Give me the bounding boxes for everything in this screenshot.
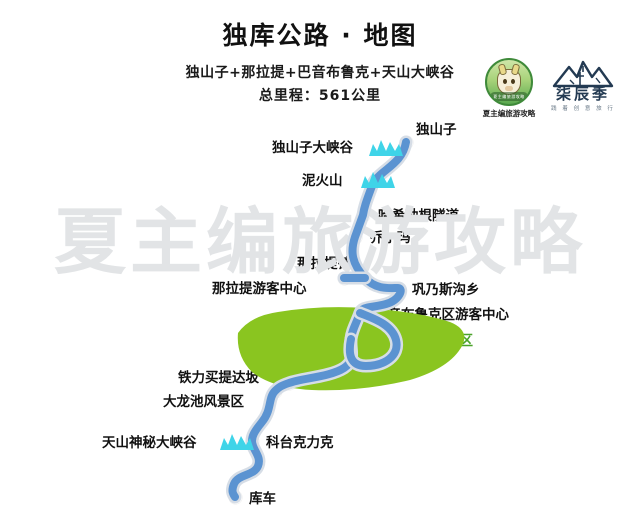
peak-icon [361,170,395,192]
cow-eye-left-icon [503,79,507,84]
partner-logo-name: 柒辰季 [550,87,616,102]
partner-logo-tagline: 践 着 创 意 旅 行 [550,104,616,112]
brand-logo-ring-text: 夏主编旅游攻略 [490,92,528,101]
brand-logo-mark: 夏主编旅游攻略 [485,58,533,106]
cow-ear-right-icon [511,63,521,76]
cow-eye-right-icon [511,79,515,84]
peak-icon [220,432,254,454]
brand-logo-caption: 夏主编旅游攻略 [478,108,540,119]
partner-logo: 柒辰季 践 着 创 意 旅 行 [550,58,616,112]
page-title: 独库公路 · 地图 [0,16,640,52]
mountain-logo-icon [552,58,614,88]
cow-ear-left-icon [498,63,508,76]
map-page: 夏主编旅游攻略 独库公路 · 地图 独山子+那拉提+巴音布鲁克+天山大峡谷 总里… [0,0,640,524]
cow-nose-icon [505,86,513,91]
peak-icon [369,138,403,160]
brand-logo: 夏主编旅游攻略 夏主编旅游攻略 [478,58,540,119]
logo-group: 夏主编旅游攻略 夏主编旅游攻略 柒辰季 践 着 创 意 旅 行 [478,58,616,119]
